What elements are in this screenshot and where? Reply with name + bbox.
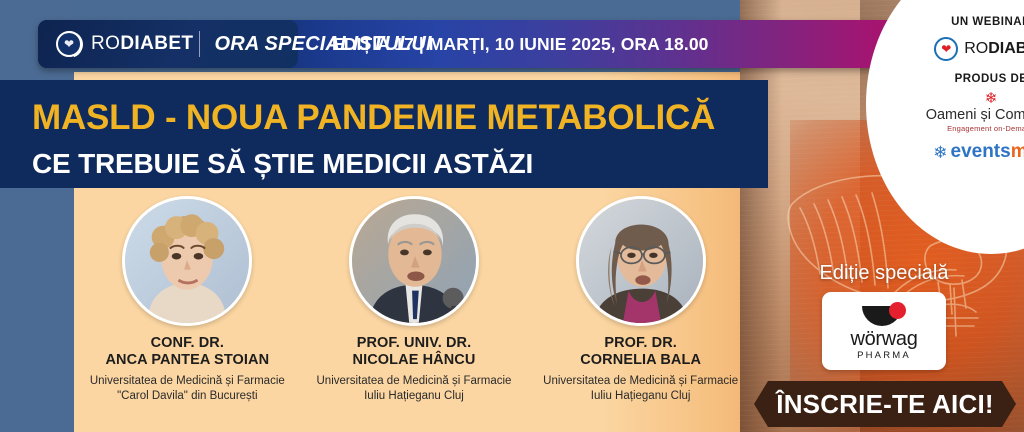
avatar (349, 196, 479, 326)
eventsmax-wordmark: eventsmax (951, 141, 1024, 163)
panel-rodiabet-suffix: DIABET (988, 40, 1024, 57)
speaker-rank: CONF. DR. (151, 335, 224, 351)
speaker-fullname: CORNELIA BALA (580, 352, 701, 368)
speaker-rank: PROF. DR. (604, 335, 677, 351)
heart-in-circle-icon: ❤ (934, 37, 958, 61)
producer-tagline: Engagement on-Demand (947, 124, 1024, 133)
eventsmax-part-b: max (1011, 141, 1024, 162)
edition-date-text: EDIȚIA 17 | MARȚI, 10 IUNIE 2025, ORA 18… (332, 34, 709, 55)
producer-name: Oameni și Companii (926, 107, 1024, 123)
eventsmax-logo[interactable]: ❄ eventsmax (933, 141, 1024, 163)
speaker-affiliation: Universitatea de Medicină și Farmacie "C… (87, 374, 287, 404)
speaker-card: PROF. DR. CORNELIA BALA Universitatea de… (535, 196, 747, 404)
register-button-label: ÎNSCRIE-TE AICI! (776, 389, 993, 420)
webinar-banner: ❤ RODIABET ORA SPECIALISTULUI EDIȚIA 17 … (0, 0, 1024, 432)
flower-icon: ❄ (985, 91, 998, 106)
rodiabet-prefix: RO (91, 33, 120, 54)
heart-glyph: ❤ (941, 43, 951, 55)
webinar-label: UN WEBINAR (951, 16, 1024, 28)
speaker-affiliation: Universitatea de Medicină și Farmacie Iu… (541, 374, 741, 404)
page-subtitle: CE TREBUIE SĂ ȘTIE MEDICII ASTĂZI (32, 148, 752, 180)
speaker-card: PROF. UNIV. DR. NICOLAE HÂNCU Universita… (308, 196, 520, 404)
page-title: MASLD - NOUA PANDEMIE METABOLICĂ (32, 98, 752, 138)
speaker-name: PROF. DR. CORNELIA BALA (580, 335, 701, 369)
rodiabet-suffix: DIABET (120, 33, 193, 54)
worwag-mark-icon (862, 302, 906, 326)
heart-in-circle-icon: ❤ (56, 31, 82, 57)
rodiabet-wordmark: RODIABET (964, 40, 1024, 58)
speakers-list: CONF. DR. ANCA PANTEA STOIAN Universitat… (74, 196, 754, 432)
speaker-fullname: ANCA PANTEA STOIAN (105, 352, 269, 368)
speaker-card: CONF. DR. ANCA PANTEA STOIAN Universitat… (81, 196, 293, 404)
panel-rodiabet-prefix: RO (964, 40, 988, 57)
register-button[interactable]: ÎNSCRIE-TE AICI! (754, 381, 1016, 427)
header-divider (199, 31, 200, 57)
special-edition-label: Ediție specială (756, 262, 1012, 285)
snowflake-icon: ❄ (933, 144, 947, 161)
rodiabet-wordmark: RODIABET (91, 33, 193, 55)
worwag-dot-shape (889, 302, 906, 319)
avatar (576, 196, 706, 326)
panel-rodiabet-logo[interactable]: ❤ RODIABET (934, 37, 1024, 61)
avatar (122, 196, 252, 326)
heart-glyph: ❤ (64, 38, 74, 50)
speaker-affiliation: Universitatea de Medicină și Farmacie Iu… (314, 374, 514, 404)
eventsmax-part-a: events (951, 141, 1011, 162)
rodiabet-logo[interactable]: ❤ RODIABET ORA SPECIALISTULUI (38, 20, 298, 68)
header-bar: ❤ RODIABET ORA SPECIALISTULUI EDIȚIA 17 … (38, 20, 988, 68)
producer-logo[interactable]: ❄ Oameni și Companii Engagement on-Deman… (926, 91, 1024, 133)
speaker-name: CONF. DR. ANCA PANTEA STOIAN (105, 335, 269, 369)
worwag-pharma-logo[interactable]: wörwag PHARMA (822, 292, 946, 370)
worwag-brand: wörwag (850, 328, 917, 351)
worwag-brand-sub: PHARMA (857, 350, 911, 361)
produced-by-label: PRODUS DE (955, 73, 1024, 85)
speaker-name: PROF. UNIV. DR. NICOLAE HÂNCU (353, 335, 476, 369)
speaker-rank: PROF. UNIV. DR. (357, 335, 472, 351)
speaker-fullname: NICOLAE HÂNCU (353, 352, 476, 368)
